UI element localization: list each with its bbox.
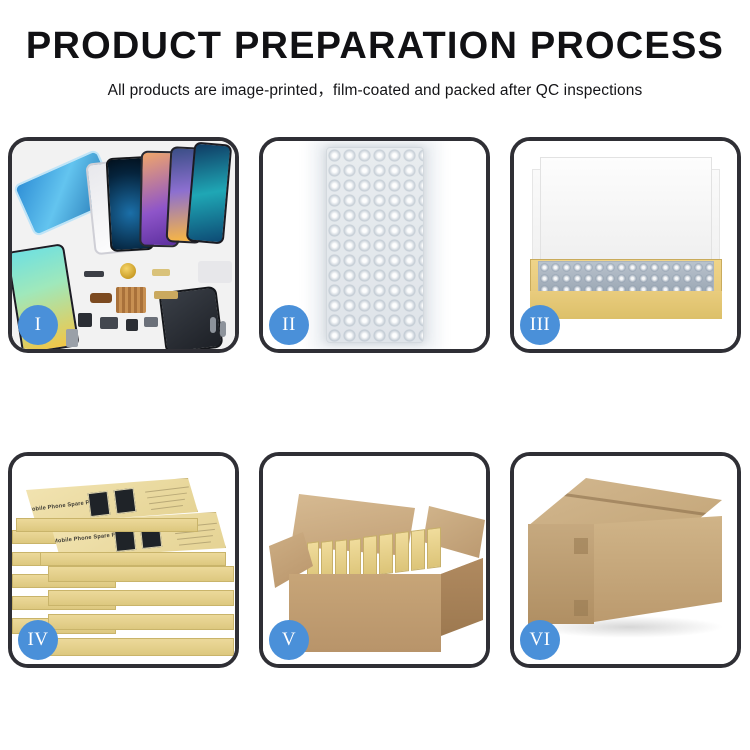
part-bracket: [144, 317, 158, 327]
part-flex-cable: [90, 293, 112, 303]
printed-box-2-body: [40, 552, 226, 566]
step-badge-6: VI: [520, 620, 560, 660]
product-preparation-infographic: PRODUCT PREPARATION PROCESS All products…: [0, 0, 750, 750]
part-flex-gold: [152, 269, 170, 276]
step-panel-bubble-wrap: II: [259, 137, 490, 353]
stacked-box-r3: [48, 614, 234, 630]
step-badge-3: III: [520, 305, 560, 345]
step-badge-4: IV: [18, 620, 58, 660]
carton-top-seam: [549, 491, 708, 516]
part-screw-b: [220, 321, 226, 337]
part-circuit-grid: [116, 287, 146, 313]
part-ic-chip: [126, 319, 138, 331]
step-badge-1: I: [18, 305, 58, 345]
part-gold-coil: [120, 263, 136, 279]
carton-front-face: [289, 574, 441, 652]
packed-box-5: [363, 535, 377, 577]
bubble-wrapped-item: [326, 147, 424, 343]
part-sim-tray: [66, 329, 78, 347]
box-fineprint-1a: [145, 486, 189, 492]
box-screen-img-1a: [88, 491, 111, 517]
step-panel-phone-parts: I: [8, 137, 239, 353]
step-badge-5: V: [269, 620, 309, 660]
header: PRODUCT PREPARATION PROCESS All products…: [0, 0, 750, 100]
box-fineprint-1b: [147, 493, 187, 499]
packed-box-9: [427, 527, 441, 569]
bubble-wrapped-units: [538, 261, 714, 295]
step-panel-sealed-carton: VI: [510, 452, 741, 668]
step-badge-2: II: [269, 305, 309, 345]
box-fineprint-1d: [151, 505, 183, 510]
box-fineprint-2c: [177, 535, 213, 540]
page-title: PRODUCT PREPARATION PROCESS: [0, 26, 750, 68]
box-fineprint-2d: [179, 541, 211, 545]
process-steps-grid: I II III: [8, 137, 742, 668]
packed-box-7: [395, 531, 409, 573]
printed-box-1-body: [16, 518, 198, 532]
sealed-carton-right-face: [594, 516, 722, 622]
packed-box-6: [379, 533, 393, 575]
stacked-box-r4: [48, 638, 234, 656]
step-panel-inner-box: III: [510, 137, 741, 353]
carton-tab-upper: [574, 538, 588, 554]
part-screw-a: [210, 317, 216, 333]
stacked-box-r1: [48, 566, 234, 582]
box-fineprint-1c: [149, 499, 185, 504]
box-screen-img-1b: [114, 488, 137, 514]
part-tray: [198, 261, 232, 283]
step-panel-stacked-boxes: Mobile Phone Spare Parts Mobile Phone Sp…: [8, 452, 239, 668]
part-battery-connector: [84, 271, 104, 277]
part-connector-strip: [154, 291, 178, 299]
carton-tab-lower: [574, 600, 588, 616]
packed-box-8: [411, 529, 425, 571]
box-tray-front: [530, 291, 722, 319]
carton-side-right: [441, 558, 483, 636]
part-speaker: [100, 317, 118, 329]
page-subtitle: All products are image-printed，film-coat…: [0, 78, 750, 100]
part-camera-module: [78, 313, 92, 327]
stacked-box-r2: [48, 590, 234, 606]
sealed-carton-left-face: [528, 524, 594, 624]
phone-display-teal: [186, 142, 233, 245]
step-panel-open-carton: V: [259, 452, 490, 668]
box-lid-white: [540, 157, 712, 265]
